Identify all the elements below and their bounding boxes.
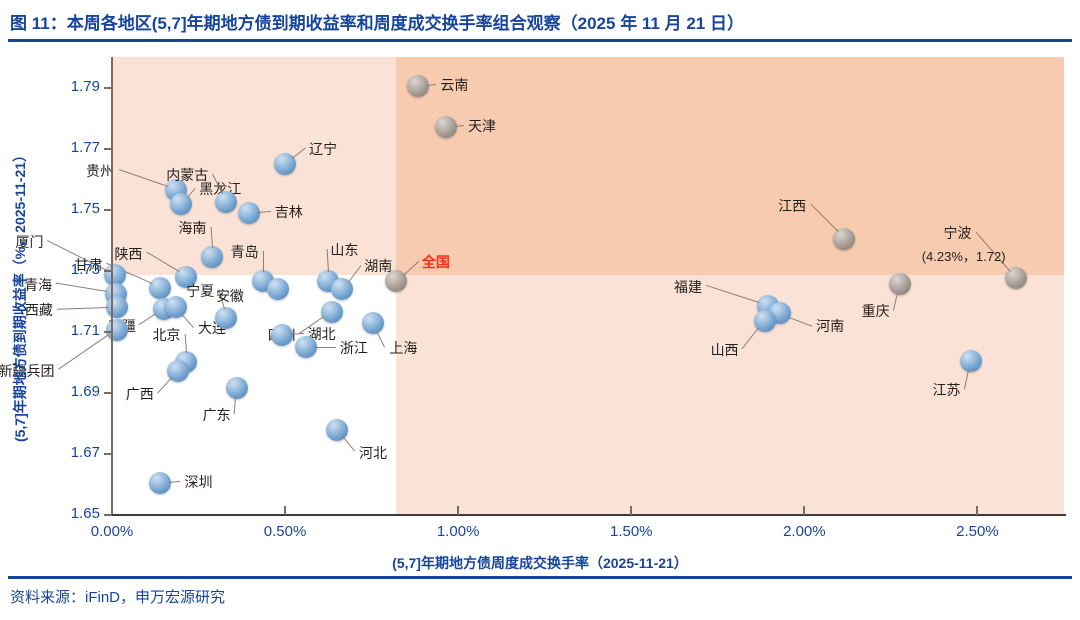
y-tick <box>104 209 112 211</box>
y-tick <box>104 392 112 394</box>
y-tick <box>104 453 112 455</box>
y-tick <box>104 514 112 516</box>
point-label: 青岛 <box>231 242 259 262</box>
data-point[interactable] <box>889 273 911 295</box>
chart-header: 图 11：本周各地区(5,7]年期地方债到期收益率和周度成交换手率组合观察（20… <box>0 0 1080 44</box>
ningbo-value-annotation: (4.23%，1.72) <box>922 246 1006 265</box>
x-tick <box>630 506 632 515</box>
y-tick <box>104 148 112 150</box>
data-point[interactable] <box>960 350 982 372</box>
y-tick <box>104 331 112 333</box>
point-label: 宁波 <box>944 223 972 243</box>
y-tick-label: 1.65 <box>40 505 100 522</box>
data-point[interactable] <box>149 277 171 299</box>
point-label: 重庆 <box>862 301 890 321</box>
point-label: 宁夏 <box>186 281 214 301</box>
point-label: 陕西 <box>114 244 142 264</box>
x-tick-label: 1.00% <box>418 523 498 540</box>
data-point[interactable] <box>226 377 248 399</box>
y-axis-line <box>111 57 113 516</box>
y-tick-label: 1.69 <box>40 383 100 400</box>
data-point[interactable] <box>271 324 293 346</box>
x-tick <box>803 506 805 515</box>
page-title: 图 11：本周各地区(5,7]年期地方债到期收益率和周度成交换手率组合观察（20… <box>10 9 744 34</box>
data-point[interactable] <box>321 301 343 323</box>
point-label: 北京 <box>152 325 180 345</box>
x-tick <box>976 506 978 515</box>
point-label: 浙江 <box>340 338 368 358</box>
point-label: 吉林 <box>275 202 303 222</box>
x-tick <box>284 506 286 515</box>
point-label: 河北 <box>359 443 387 463</box>
x-tick-label: 0.50% <box>245 523 325 540</box>
scatter-plot-area: 云南天津辽宁贵州黑龙江内蒙古吉林海南陕西青岛山东湖南全国甘肃厦门青海西藏新疆大连… <box>112 57 1064 515</box>
y-tick-label: 1.75 <box>40 200 100 217</box>
point-label: 上海 <box>389 338 417 358</box>
point-label: 江苏 <box>933 380 961 400</box>
point-label: 云南 <box>440 75 468 95</box>
point-label: 辽宁 <box>309 139 337 159</box>
y-tick-label: 1.71 <box>40 322 100 339</box>
point-label: 河南 <box>816 316 844 336</box>
y-tick <box>104 270 112 272</box>
label-leader-line <box>57 307 108 310</box>
y-tick-label: 1.67 <box>40 444 100 461</box>
point-label: 贵州 <box>86 161 114 181</box>
x-tick-label: 2.00% <box>764 523 844 540</box>
data-point[interactable] <box>1005 267 1027 289</box>
x-tick-label: 2.50% <box>937 523 1017 540</box>
title-divider <box>8 39 1072 42</box>
source-note: 资料来源：iFinD，申万宏源研究 <box>10 586 225 607</box>
x-tick-label: 1.50% <box>591 523 671 540</box>
point-label: 广西 <box>126 384 154 404</box>
point-label: 山西 <box>711 340 739 360</box>
quadrant-lower-right <box>396 275 1064 515</box>
x-tick-label: 0.00% <box>72 523 152 540</box>
data-point[interactable] <box>362 312 384 334</box>
y-tick <box>104 87 112 89</box>
point-label: 内蒙古 <box>166 165 208 185</box>
label-leader-line <box>58 335 109 371</box>
point-label: 海南 <box>178 218 206 238</box>
point-label: 深圳 <box>184 472 212 492</box>
point-label: 安徽 <box>216 286 244 306</box>
x-axis-line <box>111 514 1066 516</box>
x-tick <box>457 506 459 515</box>
data-point[interactable] <box>238 202 260 224</box>
point-label: 广东 <box>203 405 231 425</box>
x-axis-title: (5,7]年期地方债周度成交换手率（2025-11-21） <box>0 553 1080 573</box>
data-point[interactable] <box>295 336 317 358</box>
label-leader-line <box>263 251 264 272</box>
label-leader-line <box>56 283 107 293</box>
point-label: 山东 <box>330 240 358 260</box>
y-tick-label: 1.79 <box>40 78 100 95</box>
point-label: 全国 <box>422 252 450 272</box>
y-axis-title: (5,7]年期地方债到期收益率（%，2025-11-21） <box>10 85 30 505</box>
point-label: 江西 <box>778 196 806 216</box>
label-leader-line <box>315 347 336 348</box>
footer-divider <box>8 576 1072 579</box>
point-label: 福建 <box>674 277 702 297</box>
y-tick-label: 1.77 <box>40 139 100 156</box>
point-label: 天津 <box>468 116 496 136</box>
y-tick-label: 1.73 <box>40 261 100 278</box>
